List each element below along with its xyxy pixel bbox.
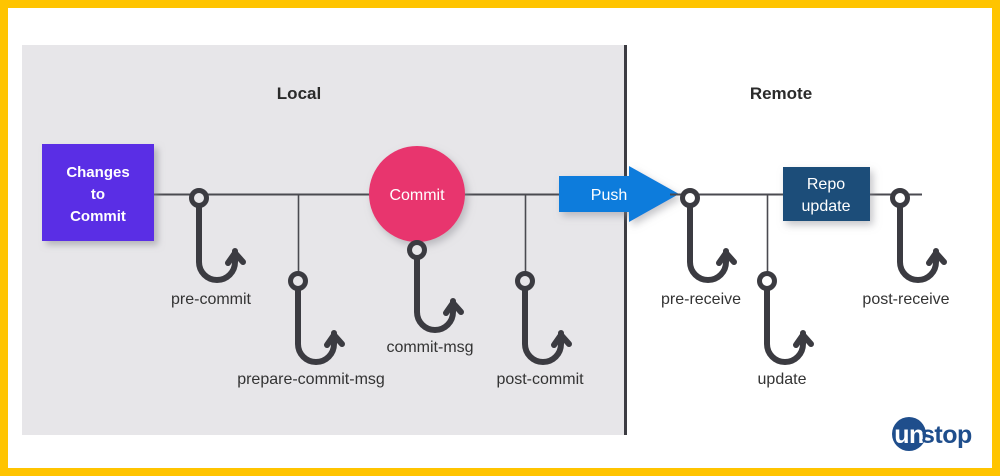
repo-update-line1: Repo: [807, 176, 845, 193]
unstop-logo-word: stop: [921, 421, 972, 449]
hook-ring-update: [760, 274, 775, 289]
hook-label-commit-msg: commit-msg: [386, 339, 473, 356]
repo-update-line2: update: [802, 198, 851, 215]
remote-panel-title: Remote: [750, 84, 812, 103]
hook-pre-receive: [683, 191, 735, 281]
changes-to-commit-line3: Commit: [70, 208, 126, 225]
hook-ring-prepare-commit-msg: [291, 274, 306, 289]
unstop-logo[interactable]: un stop: [892, 417, 972, 451]
local-panel-title: Local: [277, 84, 321, 103]
git-hooks-diagram: Local Remote Changes to Commit Commit pr…: [0, 0, 1000, 476]
diagram-canvas: Local Remote Changes to Commit Commit pr…: [0, 0, 1000, 476]
hook-label-post-commit: post-commit: [496, 371, 584, 388]
unstop-logo-mark-text: un: [894, 421, 924, 449]
hook-ring-commit-msg: [410, 243, 425, 258]
push-arrow-label: Push: [591, 187, 627, 204]
hook-label-prepare-commit-msg: prepare-commit-msg: [237, 371, 385, 388]
hook-ring-pre-commit: [192, 191, 207, 206]
hook-label-post-receive: post-receive: [862, 291, 949, 308]
hook-ring-pre-receive: [683, 191, 698, 206]
changes-to-commit-line2: to: [91, 186, 105, 203]
hook-ring-post-receive: [893, 191, 908, 206]
hook-label-pre-commit: pre-commit: [171, 291, 252, 308]
commit-circle-label: Commit: [389, 187, 445, 204]
hook-post-receive: [893, 191, 945, 281]
hook-update: [760, 274, 812, 363]
changes-to-commit-line1: Changes: [66, 164, 129, 181]
hook-ring-post-commit: [518, 274, 533, 289]
hook-label-update: update: [758, 371, 807, 388]
hook-label-pre-receive: pre-receive: [661, 291, 741, 308]
